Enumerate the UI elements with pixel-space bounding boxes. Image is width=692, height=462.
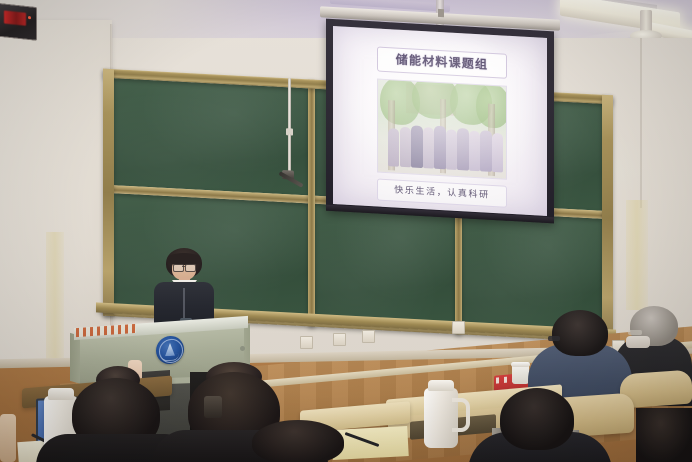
photo-person bbox=[492, 133, 503, 173]
wall-outlet bbox=[300, 336, 313, 349]
chalkboard-frame-right bbox=[602, 95, 613, 343]
slide-caption: 快乐生活，认真科研 bbox=[378, 180, 506, 207]
glasses-icon bbox=[185, 264, 196, 272]
slide-title-box: 储能材料课题组 bbox=[377, 46, 507, 78]
chalkboard-panel bbox=[114, 78, 308, 195]
audience-member-head bbox=[552, 310, 608, 356]
photo-person bbox=[469, 131, 480, 172]
wall-outlet bbox=[452, 321, 465, 334]
slide-group-photo bbox=[377, 78, 507, 179]
projected-slide: 储能材料课题组 bbox=[333, 26, 547, 216]
classroom-presentation-photo: 储能材料课题组 bbox=[0, 0, 692, 462]
photo-person bbox=[457, 128, 469, 171]
photo-person bbox=[480, 130, 492, 172]
chalkboard-divider bbox=[308, 79, 315, 326]
thermos-handle bbox=[452, 398, 470, 432]
wall-outlet bbox=[333, 333, 346, 346]
lectern-knob[interactable] bbox=[240, 346, 245, 351]
photo-person bbox=[434, 126, 446, 170]
projection-screen: 储能材料课题组 bbox=[326, 19, 554, 224]
screen-pull-rod-upper[interactable] bbox=[288, 78, 291, 130]
wall-patch-right bbox=[626, 200, 648, 310]
audience-member-head bbox=[252, 420, 344, 462]
paper-cup-lid bbox=[511, 362, 530, 367]
slide-title: 储能材料课题组 bbox=[378, 48, 506, 78]
audience-member-collar bbox=[626, 336, 650, 348]
audience-member-head bbox=[636, 408, 692, 462]
glasses-icon bbox=[548, 336, 560, 341]
paper-cup bbox=[512, 364, 529, 384]
led-display-panel bbox=[0, 3, 37, 41]
audience-member-head bbox=[500, 388, 574, 450]
wall-outlet bbox=[362, 330, 375, 343]
thermos-lid bbox=[428, 380, 454, 391]
hair-clip bbox=[204, 396, 222, 418]
glasses-icon bbox=[628, 330, 642, 335]
bottle bbox=[0, 414, 16, 462]
thermos-lid bbox=[48, 388, 74, 400]
photo-person bbox=[400, 127, 411, 168]
photo-person bbox=[423, 127, 434, 169]
led-digits bbox=[4, 10, 26, 25]
glasses-bridge bbox=[182, 266, 185, 267]
chalkboard-panel bbox=[315, 204, 455, 323]
photo-person bbox=[411, 125, 423, 168]
slide-caption-box: 快乐生活，认真科研 bbox=[377, 178, 507, 207]
projection-screen-bracket bbox=[438, 9, 444, 17]
screen-pull-rod-lower[interactable] bbox=[288, 134, 291, 172]
photo-person bbox=[446, 129, 457, 170]
led-indicator-dot bbox=[28, 16, 31, 19]
presenter-bangs bbox=[167, 253, 201, 265]
chalkboard-frame-left bbox=[103, 69, 114, 317]
photo-person bbox=[388, 128, 399, 167]
